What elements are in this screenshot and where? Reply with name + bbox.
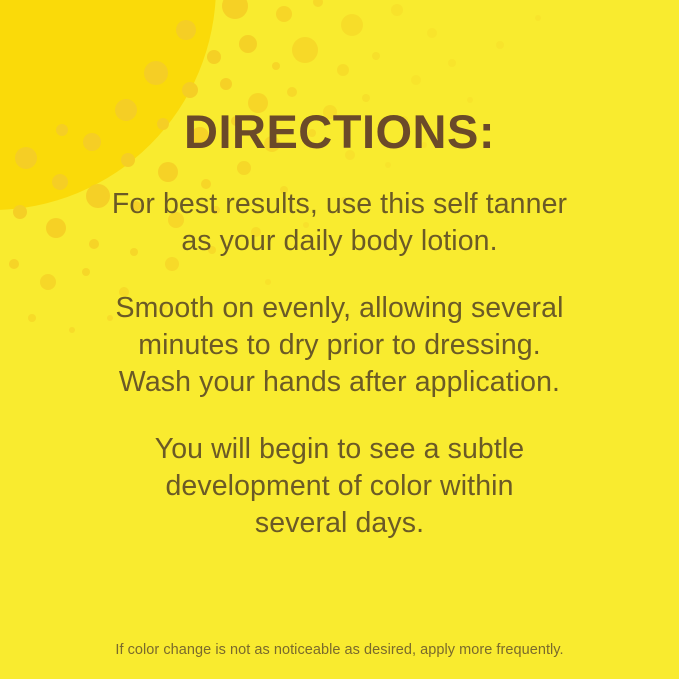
label-content: DIRECTIONS: For best results, use this s… (0, 0, 679, 679)
body-line: Smooth on evenly, allowing several (0, 290, 679, 327)
paragraph-smooth-on: Smooth on evenly, allowing severalminute… (0, 290, 679, 401)
body-line: For best results, use this self tanner (0, 186, 679, 223)
directions-label-card: DIRECTIONS: For best results, use this s… (0, 0, 679, 679)
paragraph-best-results: For best results, use this self tanneras… (0, 186, 679, 260)
body-line: minutes to dry prior to dressing. (0, 327, 679, 364)
body-line: Wash your hands after application. (0, 364, 679, 401)
page-title: DIRECTIONS: (0, 108, 679, 155)
directions-body: For best results, use this self tanneras… (0, 186, 679, 542)
paragraph-development: You will begin to see a subtledevelopmen… (0, 431, 679, 542)
body-line: several days. (0, 505, 679, 542)
body-line: You will begin to see a subtle (0, 431, 679, 468)
footnote-text: If color change is not as noticeable as … (0, 641, 679, 660)
body-line: as your daily body lotion. (0, 223, 679, 260)
body-line: development of color within (0, 468, 679, 505)
